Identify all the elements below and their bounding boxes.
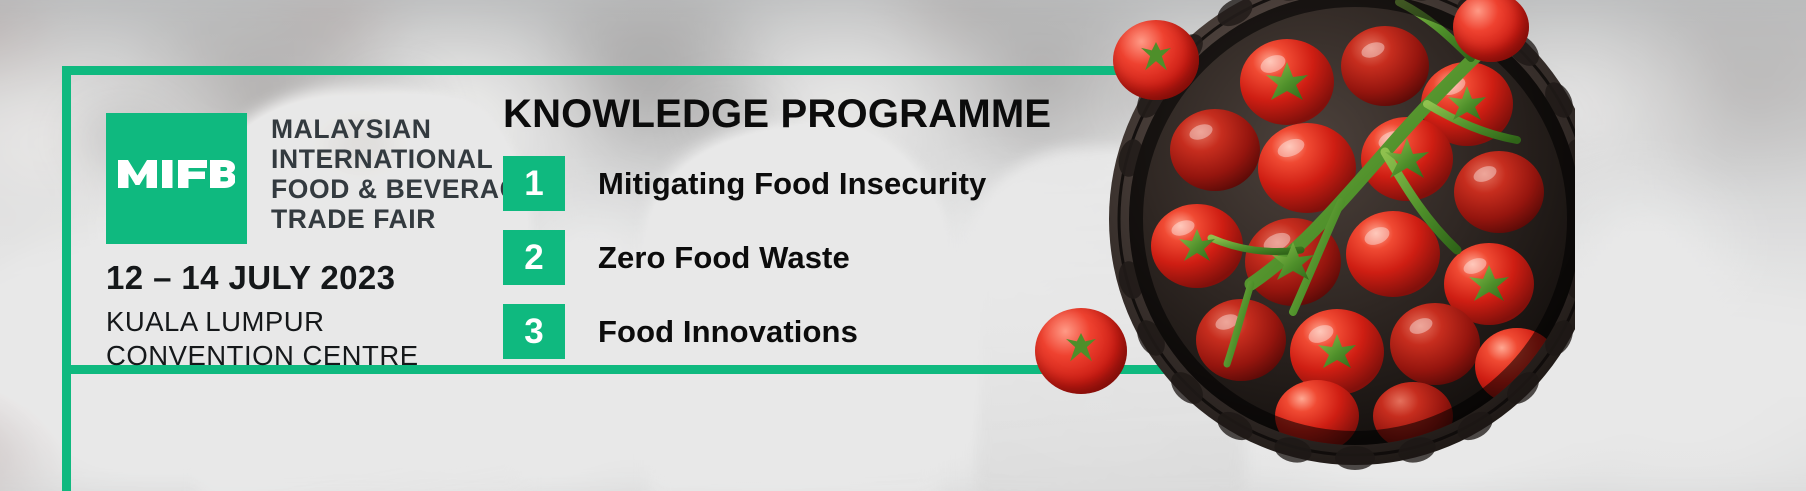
event-info-block: MALAYSIAN INTERNATIONAL FOOD & BEVERAGE …: [106, 113, 539, 372]
tomato-stem-icon: [1139, 42, 1173, 72]
list-item-number: 1: [503, 156, 565, 211]
loose-tomato-bottom-left: [1035, 308, 1127, 394]
list-item-label: Mitigating Food Insecurity: [598, 166, 986, 202]
organisation-name: MALAYSIAN INTERNATIONAL FOOD & BEVERAGE …: [271, 113, 539, 234]
mifb-logo-icon: [118, 157, 235, 199]
logo-and-organisation-row: MALAYSIAN INTERNATIONAL FOOD & BEVERAGE …: [106, 113, 539, 244]
list-item-number: 2: [503, 230, 565, 285]
list-item-label: Food Innovations: [598, 314, 858, 350]
mifb-knowledge-programme-banner: MALAYSIAN INTERNATIONAL FOOD & BEVERAGE …: [0, 0, 1806, 491]
knowledge-programme-title: KNOWLEDGE PROGRAMME: [503, 92, 1051, 137]
mifb-logo: [106, 113, 247, 244]
list-item-label: Zero Food Waste: [598, 240, 850, 276]
knowledge-programme-list: 1 Mitigating Food Insecurity 2 Zero Food…: [503, 156, 1051, 359]
list-item: 2 Zero Food Waste: [503, 230, 1051, 285]
event-venue: KUALA LUMPUR CONVENTION CENTRE: [106, 305, 539, 372]
loose-tomato-top-left: [1113, 20, 1199, 100]
tomato-stem-icon: [1064, 333, 1098, 363]
green-frame-left-extension: [62, 374, 71, 491]
list-item-number: 3: [503, 304, 565, 359]
list-item: 3 Food Innovations: [503, 304, 1051, 359]
event-date: 12 – 14 JULY 2023: [106, 259, 539, 297]
knowledge-programme-block: KNOWLEDGE PROGRAMME 1 Mitigating Food In…: [503, 92, 1051, 378]
list-item: 1 Mitigating Food Insecurity: [503, 156, 1051, 211]
